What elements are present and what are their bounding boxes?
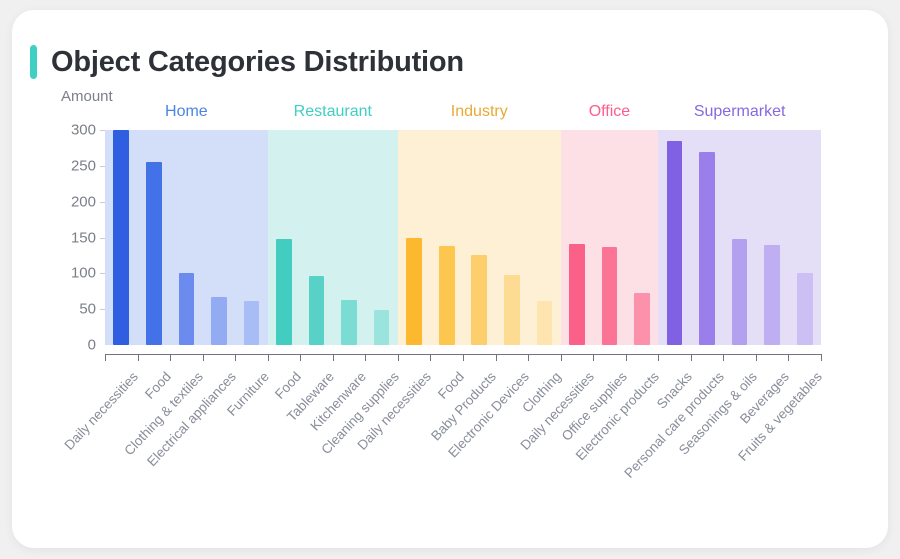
bar[interactable] xyxy=(309,276,325,345)
x-axis-line xyxy=(105,354,821,355)
bar[interactable] xyxy=(504,275,520,345)
bar[interactable] xyxy=(797,273,813,345)
bar[interactable] xyxy=(341,300,357,345)
bar[interactable] xyxy=(179,273,195,345)
x-axis-labels: Daily necessitiesFoodClothing & textiles… xyxy=(105,358,821,528)
y-tick-label: 100 xyxy=(71,265,96,282)
bar[interactable] xyxy=(439,246,455,345)
bar[interactable] xyxy=(602,247,618,345)
y-tick-label: 250 xyxy=(71,157,96,174)
y-axis-label: Amount xyxy=(61,88,113,105)
x-tick xyxy=(821,354,822,361)
bar[interactable] xyxy=(146,162,162,345)
bar[interactable] xyxy=(276,239,292,345)
bar[interactable] xyxy=(634,293,650,345)
plot-region: 050100150200250300HomeRestaurantIndustry… xyxy=(105,130,821,345)
bar[interactable] xyxy=(211,297,227,345)
group-label-home: Home xyxy=(165,103,208,121)
bar[interactable] xyxy=(699,152,715,346)
bar[interactable] xyxy=(471,255,487,345)
group-label-restaurant: Restaurant xyxy=(294,103,372,121)
group-label-industry: Industry xyxy=(451,103,508,121)
group-label-supermarket: Supermarket xyxy=(694,103,786,121)
group-label-office: Office xyxy=(589,103,631,121)
y-tick-label: 150 xyxy=(71,229,96,246)
chart-area: Amount 050100150200250300HomeRestaurantI… xyxy=(12,10,888,548)
bar[interactable] xyxy=(732,239,748,345)
y-tick-label: 200 xyxy=(71,193,96,210)
y-tick-label: 300 xyxy=(71,122,96,139)
bar[interactable] xyxy=(374,310,390,345)
bar[interactable] xyxy=(667,141,683,345)
chart-card: Object Categories Distribution Amount 05… xyxy=(12,10,888,548)
y-tick-label: 50 xyxy=(79,301,96,318)
bar[interactable] xyxy=(764,245,780,345)
bar[interactable] xyxy=(113,130,129,345)
bar[interactable] xyxy=(569,244,585,345)
y-tick-label: 0 xyxy=(88,337,96,354)
bar[interactable] xyxy=(244,301,260,345)
bar[interactable] xyxy=(537,301,553,345)
bar[interactable] xyxy=(406,238,422,346)
